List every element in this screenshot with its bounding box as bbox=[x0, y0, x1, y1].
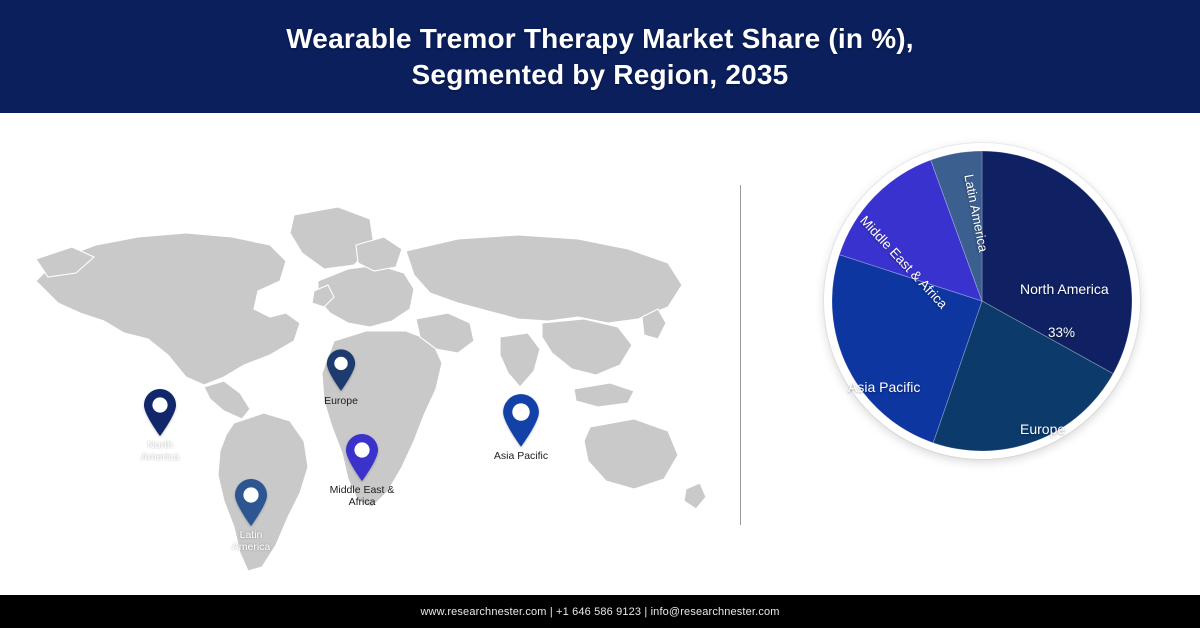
page-title: Wearable Tremor Therapy Market Share (in… bbox=[286, 21, 914, 93]
location-pin-icon bbox=[143, 389, 177, 437]
map-label-asia-pacific: Asia Pacific bbox=[451, 450, 591, 462]
map-label-north-america: North America bbox=[90, 439, 230, 464]
page-title-line-1: Wearable Tremor Therapy Market Share (in… bbox=[286, 23, 914, 54]
footer-bar: www.researchnester.com | +1 646 586 9123… bbox=[0, 595, 1200, 628]
pie-chart[interactable]: North America 33% Europe Asia Pacific Mi… bbox=[824, 143, 1140, 459]
location-pin-icon bbox=[326, 349, 356, 392]
footer-contact-text: www.researchnester.com | +1 646 586 9123… bbox=[420, 606, 779, 618]
infographic-page: Wearable Tremor Therapy Market Share (in… bbox=[0, 0, 1200, 628]
pie-chart-panel: North America 33% Europe Asia Pacific Mi… bbox=[740, 113, 1200, 595]
location-pin-icon bbox=[234, 479, 268, 527]
header-banner: Wearable Tremor Therapy Market Share (in… bbox=[0, 0, 1200, 113]
page-title-line-2: Segmented by Region, 2035 bbox=[286, 57, 914, 93]
map-label-latin-america: Latin America bbox=[181, 529, 321, 554]
location-pin-icon bbox=[502, 394, 540, 448]
pie-value-north-america: 33% bbox=[1048, 325, 1075, 340]
content-area: North America Europe Asia Pacific bbox=[0, 113, 1200, 595]
pie-chart-graphic[interactable] bbox=[832, 151, 1132, 451]
map-label-middle-east-africa: Middle East & Africa bbox=[292, 484, 432, 509]
location-pin-icon bbox=[345, 434, 379, 482]
world-map-graphic bbox=[18, 141, 718, 581]
map-label-europe: Europe bbox=[271, 395, 411, 407]
world-map-panel: North America Europe Asia Pacific bbox=[0, 113, 735, 595]
